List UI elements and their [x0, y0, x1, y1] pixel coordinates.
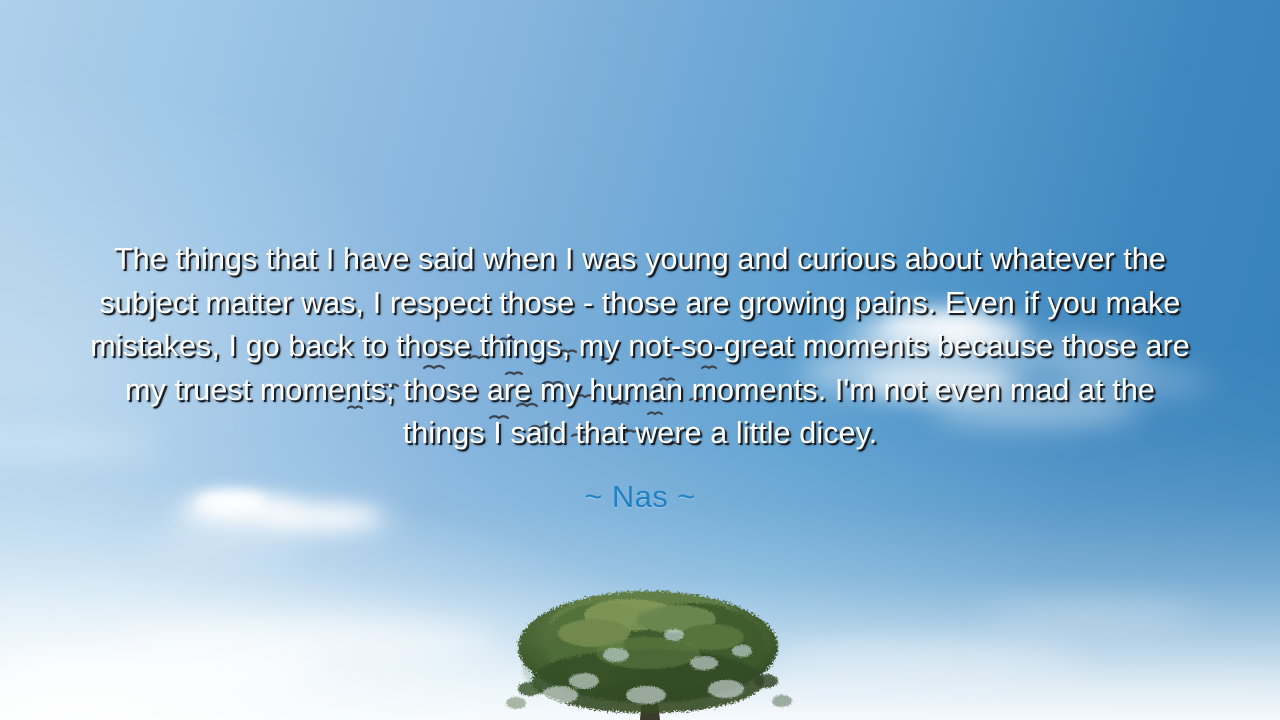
- quote-block: The things that I have said when I was y…: [85, 238, 1195, 518]
- oak-tree: [498, 585, 798, 720]
- quote-text: The things that I have said when I was y…: [85, 238, 1195, 456]
- quote-attribution: ~ Nas ~: [85, 476, 1195, 518]
- quote-image-canvas: The things that I have said when I was y…: [0, 0, 1280, 720]
